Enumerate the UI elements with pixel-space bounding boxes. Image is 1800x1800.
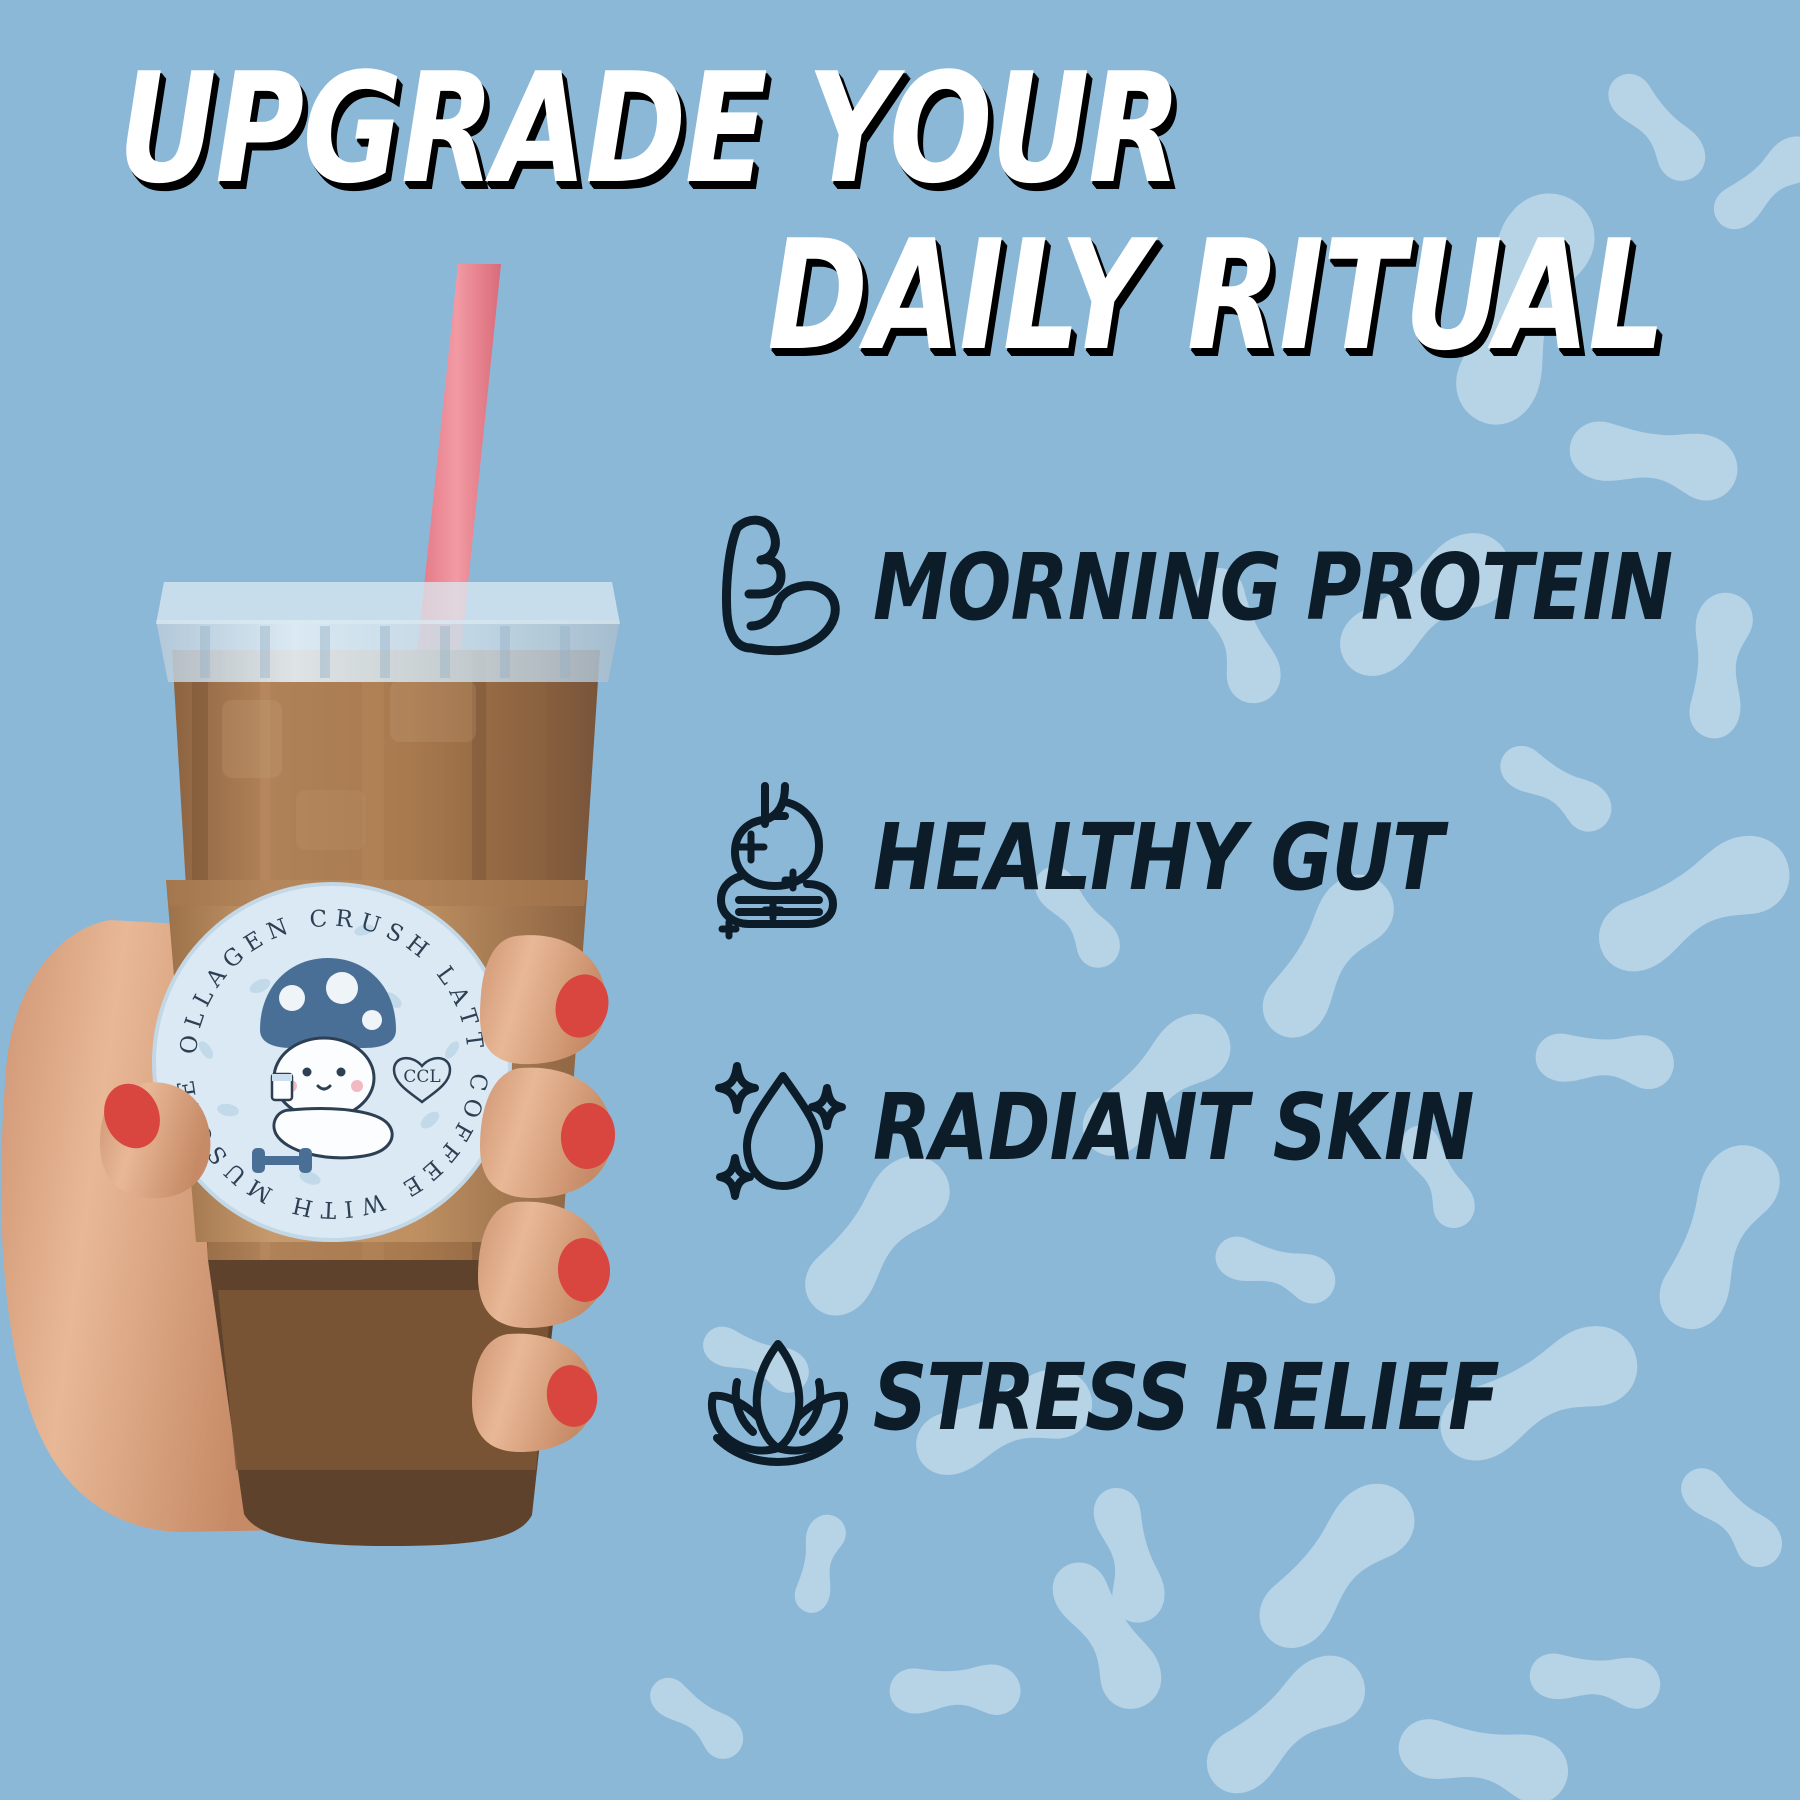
sticker-monogram-text: CCL <box>403 1067 440 1087</box>
stomach-gut-icon <box>690 770 865 945</box>
lotus-flower-icon <box>690 1310 865 1485</box>
product-photo: COLLAGEN CRUSH LATTE COFFEE WITH MUSCLE <box>0 230 720 1560</box>
benefit-label: HEALTHY GUT <box>873 804 1443 911</box>
benefit-row-radiant-skin[interactable]: RADIANT SKIN <box>690 992 1780 1262</box>
cup-lid <box>156 582 620 682</box>
benefit-label: STRESS RELIEF <box>873 1344 1499 1451</box>
promo-poster: UPGRADE YOUR DAILY RITUAL <box>0 0 1800 1800</box>
benefit-row-healthy-gut[interactable]: HEALTHY GUT <box>690 722 1780 992</box>
benefit-label: MORNING PROTEIN <box>873 534 1672 641</box>
benefits-list: MORNING PROTEIN <box>690 452 1780 1532</box>
flexed-bicep-icon <box>690 500 865 675</box>
benefit-row-morning-protein[interactable]: MORNING PROTEIN <box>690 452 1780 722</box>
benefit-row-stress-relief[interactable]: STRESS RELIEF <box>690 1262 1780 1532</box>
benefit-label: RADIANT SKIN <box>873 1074 1474 1181</box>
water-droplet-icon <box>690 1040 865 1215</box>
